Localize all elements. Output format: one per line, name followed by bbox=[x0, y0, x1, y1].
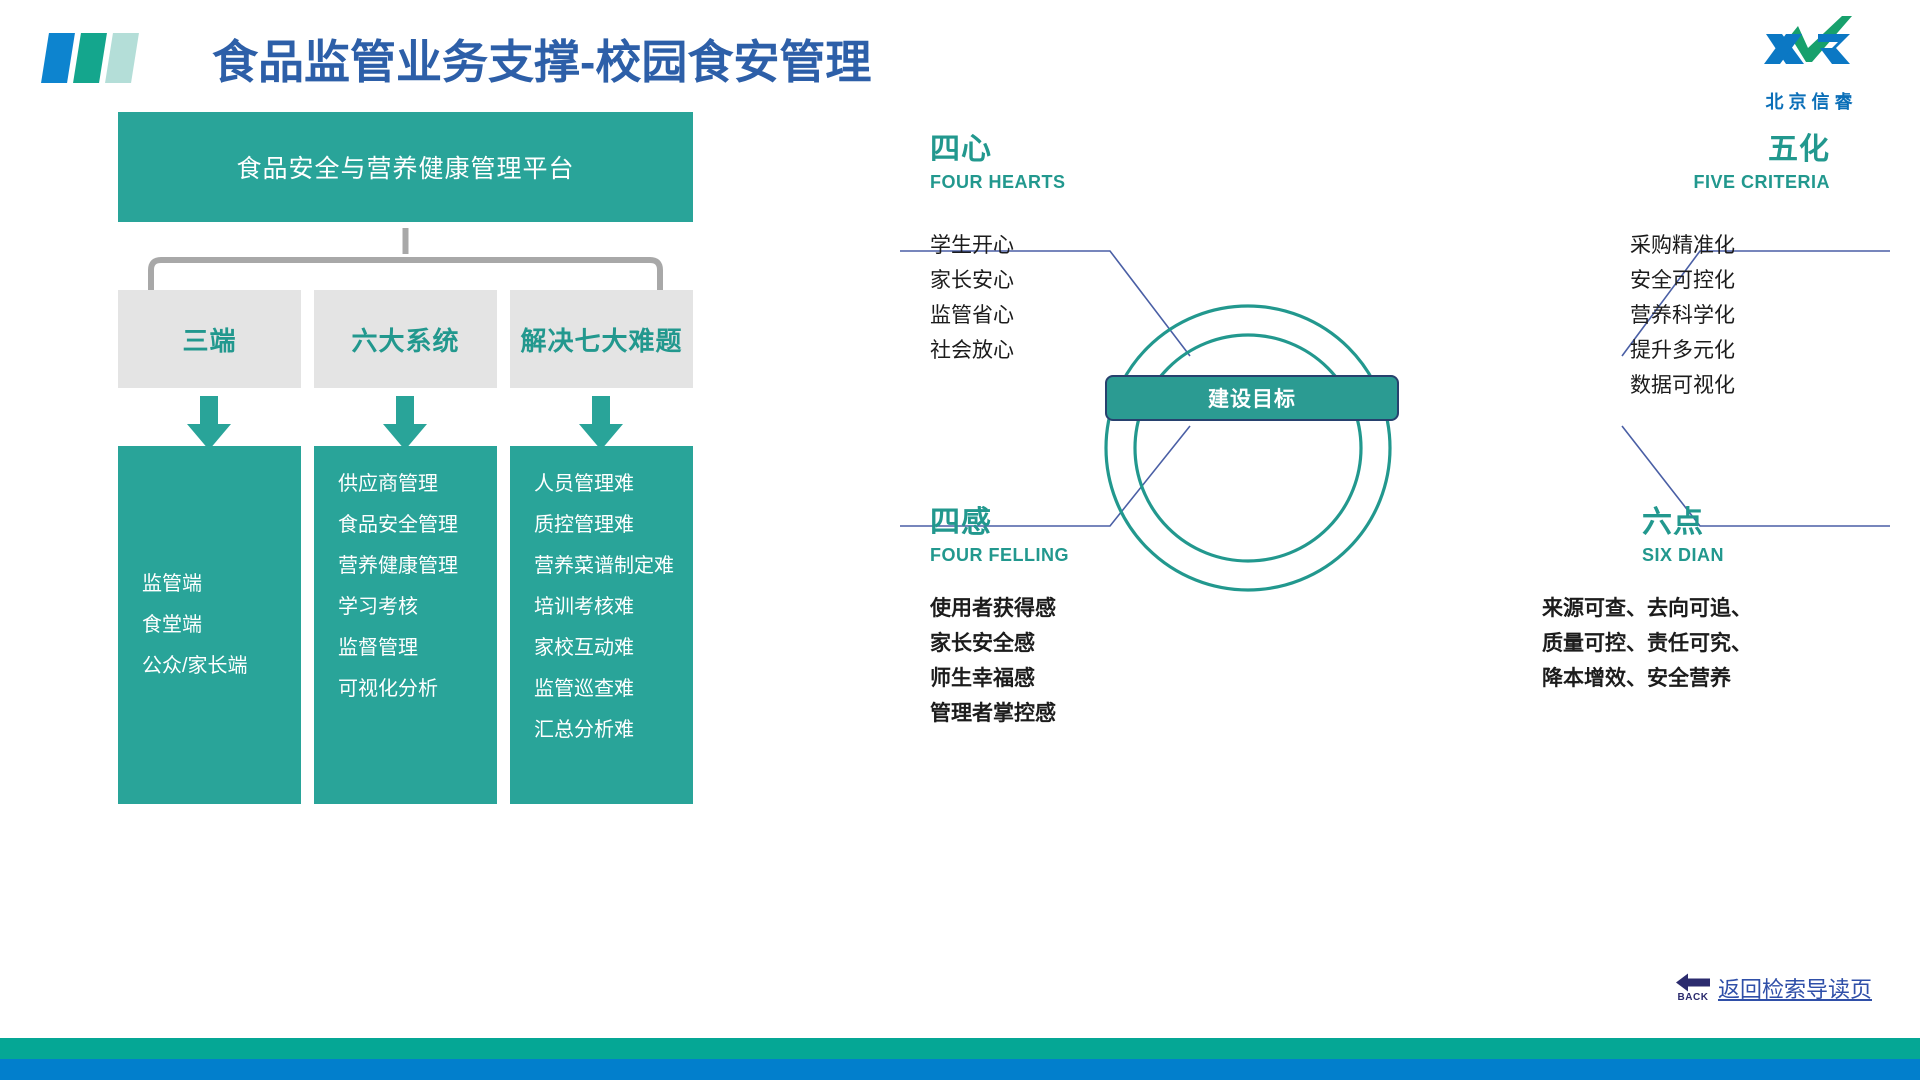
list-item: 公众/家长端 bbox=[118, 646, 301, 687]
list-item: 汇总分析难 bbox=[510, 710, 693, 751]
list-item: 供应商管理 bbox=[314, 464, 497, 505]
quadrant-list-five-criteria: 采购精准化 安全可控化 营养科学化 提升多元化 数据可视化 bbox=[1630, 228, 1735, 403]
list-item: 食品安全管理 bbox=[314, 505, 497, 546]
list-item: 提升多元化 bbox=[1630, 333, 1735, 368]
quadrant-title-cn: 五化 bbox=[1693, 132, 1830, 168]
back-icon-label: BACK bbox=[1678, 993, 1709, 1003]
header-accent-bars bbox=[45, 33, 167, 83]
quadrant-title-en: FOUR FELLING bbox=[930, 543, 1069, 567]
center-goal-chip[interactable]: 建设目标 bbox=[1105, 375, 1399, 421]
quadrant-heading-six-dian: 六点 SIX DIAN bbox=[1642, 505, 1724, 567]
right-diagram-panel: 建设目标 四心 FOUR HEARTS 学生开心 家长安心 监管省心 社会放心 … bbox=[860, 108, 1920, 928]
list-item: 营养健康管理 bbox=[314, 546, 497, 587]
list-item: 学习考核 bbox=[314, 587, 497, 628]
footer-band-teal bbox=[0, 1038, 1920, 1059]
list-item: 来源可查、去向可追、 bbox=[1542, 591, 1752, 626]
quadrant-list-four-felling: 使用者获得感 家长安全感 师生幸福感 管理者掌控感 bbox=[930, 591, 1056, 731]
category-box-1[interactable]: 六大系统 bbox=[314, 290, 497, 388]
list-item: 降本增效、安全营养 bbox=[1542, 661, 1752, 696]
list-item: 家长安全感 bbox=[930, 626, 1056, 661]
category-label-2: 解决七大难题 bbox=[520, 321, 682, 358]
list-item: 可视化分析 bbox=[314, 669, 497, 710]
detail-list-0: 监管端 食堂端 公众/家长端 bbox=[118, 446, 301, 804]
quadrant-title-cn: 六点 bbox=[1642, 505, 1724, 541]
category-label-0: 三端 bbox=[182, 321, 236, 358]
platform-title-box: 食品安全与营养健康管理平台 bbox=[118, 112, 693, 222]
list-item: 师生幸福感 bbox=[930, 661, 1056, 696]
list-item: 管理者掌控感 bbox=[930, 696, 1056, 731]
category-box-2[interactable]: 解决七大难题 bbox=[510, 290, 693, 388]
quadrant-title-en: SIX DIAN bbox=[1642, 543, 1724, 567]
quadrant-title-cn: 四感 bbox=[930, 505, 1069, 541]
quadrant-heading-five-criteria: 五化 FIVE CRITERIA bbox=[1693, 132, 1830, 194]
list-item: 人员管理难 bbox=[510, 464, 693, 505]
arrow-left-icon bbox=[1676, 973, 1710, 992]
detail-list-2: 人员管理难 质控管理难 营养菜谱制定难 培训考核难 家校互动难 监管巡查难 汇总… bbox=[510, 446, 693, 804]
list-item: 监管巡查难 bbox=[510, 669, 693, 710]
quadrant-heading-four-felling: 四感 FOUR FELLING bbox=[930, 505, 1069, 567]
list-item: 营养科学化 bbox=[1630, 298, 1735, 333]
list-item: 质量可控、责任可究、 bbox=[1542, 626, 1752, 661]
down-arrow-icon-0 bbox=[185, 396, 233, 451]
quadrant-title-cn: 四心 bbox=[930, 132, 1066, 168]
list-item: 使用者获得感 bbox=[930, 591, 1056, 626]
center-goal-label: 建设目标 bbox=[1208, 383, 1296, 413]
list-item: 社会放心 bbox=[930, 333, 1014, 368]
list-item: 培训考核难 bbox=[510, 587, 693, 628]
list-item: 监管端 bbox=[118, 564, 301, 605]
category-label-1: 六大系统 bbox=[351, 321, 459, 358]
accent-bar-light bbox=[105, 33, 139, 83]
down-arrow-icon-2 bbox=[577, 396, 625, 451]
list-item: 采购精准化 bbox=[1630, 228, 1735, 263]
bracket-connector bbox=[118, 228, 693, 293]
quadrant-title-en: FOUR HEARTS bbox=[930, 170, 1066, 194]
platform-title: 食品安全与营养健康管理平台 bbox=[236, 149, 574, 185]
detail-list-1: 供应商管理 食品安全管理 营养健康管理 学习考核 监督管理 可视化分析 bbox=[314, 446, 497, 804]
back-icon-group[interactable]: BACK bbox=[1676, 973, 1710, 1003]
list-item: 监管省心 bbox=[930, 298, 1014, 333]
list-item: 安全可控化 bbox=[1630, 263, 1735, 298]
quadrant-list-four-hearts: 学生开心 家长安心 监管省心 社会放心 bbox=[930, 228, 1014, 368]
list-item: 食堂端 bbox=[118, 605, 301, 646]
footer-band-blue bbox=[0, 1059, 1920, 1080]
quadrant-title-en: FIVE CRITERIA bbox=[1693, 170, 1830, 194]
list-item: 营养菜谱制定难 bbox=[510, 546, 693, 587]
list-item: 家长安心 bbox=[930, 263, 1014, 298]
xr-logo-icon bbox=[1746, 14, 1872, 86]
center-rings-icon bbox=[1098, 298, 1398, 598]
accent-bar-green bbox=[73, 33, 107, 83]
accent-bar-blue bbox=[41, 33, 75, 83]
list-item: 家校互动难 bbox=[510, 628, 693, 669]
brand-logo: 北京信睿 bbox=[1746, 14, 1872, 110]
page-header: 食品监管业务支撑-校园食安管理 北京信睿 bbox=[0, 0, 1920, 120]
category-box-0[interactable]: 三端 bbox=[118, 290, 301, 388]
list-item: 数据可视化 bbox=[1630, 368, 1735, 403]
left-diagram-panel: 食品安全与营养健康管理平台 三端 六大系统 解决七大难题 监管端 食堂端 公众/… bbox=[0, 108, 860, 928]
quadrant-list-six-dian: 来源可查、去向可追、 质量可控、责任可究、 降本增效、安全营养 bbox=[1542, 591, 1752, 696]
list-item: 监督管理 bbox=[314, 628, 497, 669]
back-link[interactable]: BACK 返回检索导读页 bbox=[1676, 972, 1872, 1004]
page-title: 食品监管业务支撑-校园食安管理 bbox=[212, 26, 871, 92]
quadrant-heading-four-hearts: 四心 FOUR HEARTS bbox=[930, 132, 1066, 194]
list-item: 学生开心 bbox=[930, 228, 1014, 263]
list-item: 质控管理难 bbox=[510, 505, 693, 546]
down-arrow-icon-1 bbox=[381, 396, 429, 451]
back-link-text[interactable]: 返回检索导读页 bbox=[1718, 972, 1872, 1004]
